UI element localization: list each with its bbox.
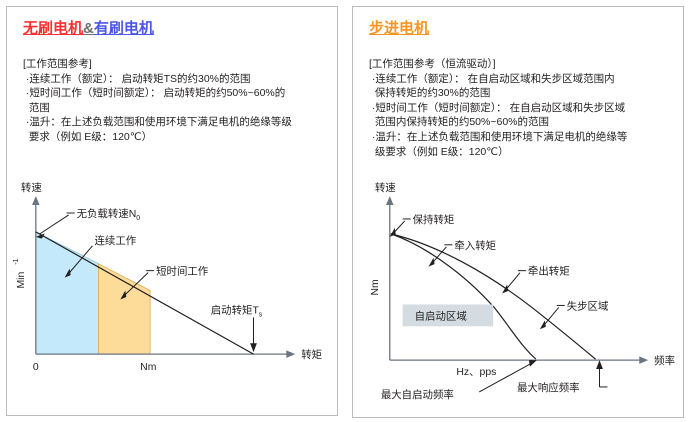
x-axis-title: 转矩 — [301, 348, 322, 361]
self-start-region-badge — [403, 304, 493, 326]
y-axis-arrow — [386, 196, 394, 205]
label-no-load-speed: 无负载转速N0 — [77, 207, 141, 222]
label-start-torque: 启动转矩Ts — [211, 303, 263, 318]
label-pull-out-torque: 牵出转矩 — [528, 265, 570, 278]
x-axis-arrow — [286, 350, 295, 358]
panel-brushless-brushed-motor: 无刷电机&有刷电机 [工作范围参考] ·连续工作（额定）： 启动转矩TS的约30… — [6, 6, 338, 416]
label-max-self-start-freq: 最大自启动频率 — [381, 388, 454, 401]
label-short-time-operation: 短时间工作 — [156, 265, 209, 278]
x-axis-unit: Hz、pps — [456, 367, 496, 378]
annotation-arrow-short-time — [124, 273, 148, 296]
annotation-arrow-holding-torque — [394, 221, 405, 233]
label-slip-region: 失步区域 — [567, 299, 609, 312]
annotation-arrow-continuous — [69, 246, 93, 274]
label-holding-torque: 保持转矩 — [413, 213, 455, 226]
annotation-arrowhead-holding-torque — [390, 228, 396, 237]
curve-pull-in-torque — [391, 234, 536, 359]
y-axis-unit: Nm — [370, 279, 381, 295]
annotation-arrow-pull-out — [506, 273, 520, 290]
annotation-arrow-no-load — [40, 215, 69, 234]
panel-stepper-motor: 步进电机 [工作范围参考（恒流驱动）] ·连续工作（额定）： 在自启动区域和失步… — [352, 6, 684, 418]
annotation-arrowhead-short-time — [120, 291, 126, 300]
annotation-arrow-slip-region — [544, 307, 559, 325]
left-panel-title: 无刷电机&有刷电机 — [23, 20, 154, 38]
annotation-arrowhead-pull-in — [429, 258, 435, 267]
y-axis-title: 转速 — [375, 181, 396, 194]
label-self-start-region: 自启动区域 — [415, 309, 467, 322]
curve-pull-out-torque — [391, 234, 596, 359]
title-brushless-motor: 无刷电机 — [23, 20, 83, 37]
y-axis-unit-exponent: -1 — [13, 258, 20, 264]
title-brushed-motor: 有刷电机 — [94, 20, 154, 37]
label-continuous-operation: 连续工作 — [94, 234, 136, 247]
x-axis-title: 频率 — [654, 354, 675, 367]
annotation-arrowhead-continuous — [65, 269, 71, 278]
y-axis-title: 转速 — [21, 181, 42, 194]
annotation-arrowhead-max-self-start-freq — [529, 360, 537, 366]
annotation-arrowhead-pull-out — [502, 285, 508, 294]
label-pull-in-torque: 牵入转矩 — [454, 239, 496, 252]
right-panel-title: 步进电机 — [369, 20, 429, 38]
annotation-arrow-max-self-start-freq — [479, 363, 532, 392]
left-panel-body-text: [工作范围参考] ·连续工作（额定）： 启动转矩TS的约30%的范围 ·短时间工… — [23, 57, 292, 145]
title-ampersand: & — [83, 20, 94, 37]
region-continuous-operation — [36, 232, 99, 354]
annotation-arrowhead-no-load — [36, 233, 45, 238]
annotation-arrowhead-start-torque — [250, 343, 257, 352]
y-axis-unit: Min — [16, 272, 27, 289]
annotation-arrowhead-max-response-freq — [596, 360, 603, 369]
annotation-arrowhead-slip-region — [540, 320, 546, 329]
x-tick-nm: Nm — [140, 362, 156, 373]
x-tick-zero: 0 — [33, 362, 39, 373]
region-short-time-operation — [98, 264, 150, 354]
x-axis-arrow — [639, 356, 648, 364]
title-stepper-motor: 步进电机 — [369, 20, 429, 37]
y-axis-arrow — [32, 196, 40, 205]
annotation-arrow-pull-in — [433, 247, 447, 263]
right-panel-body-text: [工作范围参考（恒流驱动）] ·连续工作（额定）： 在自启动区域和失步区域范围内… — [369, 57, 627, 159]
speed-torque-line — [36, 232, 254, 354]
label-max-response-freq: 最大响应频率 — [517, 381, 580, 394]
